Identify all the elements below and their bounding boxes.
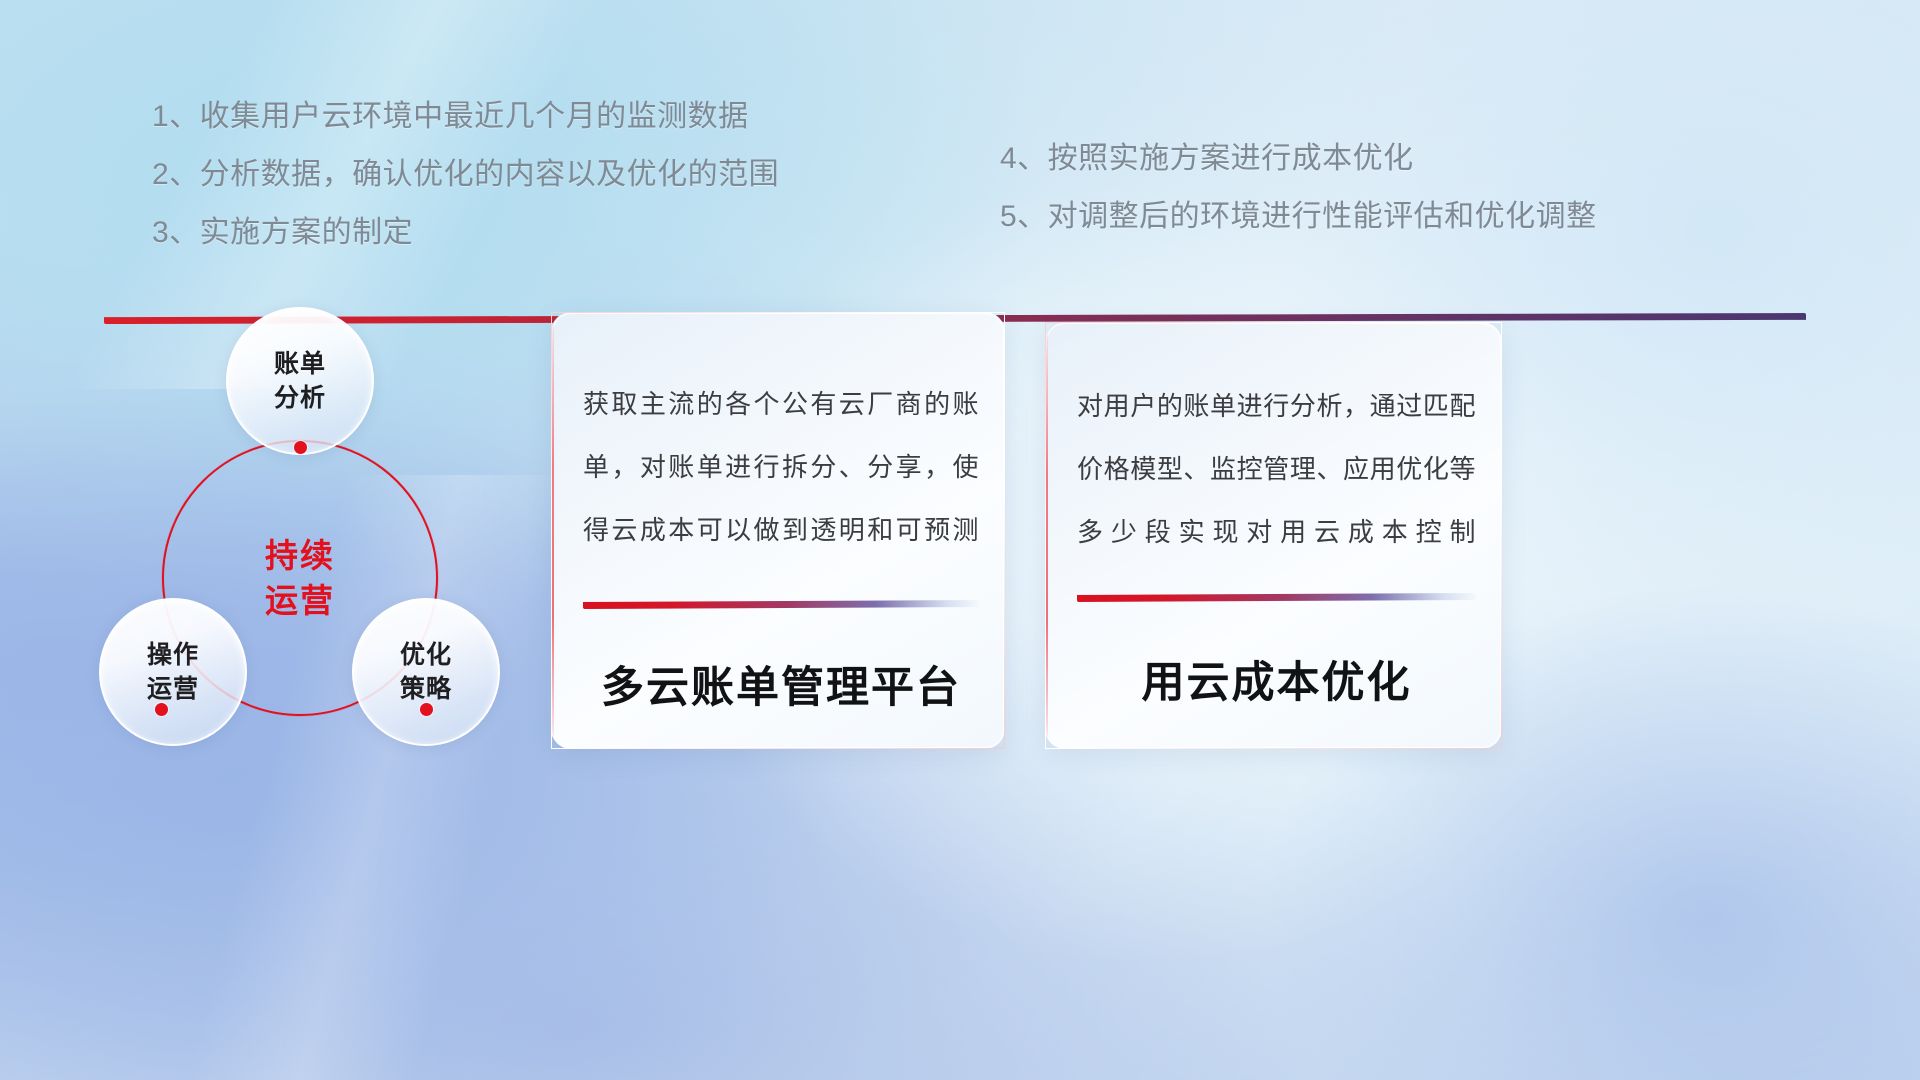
steps-column-right: 4、按照实施方案进行成本优化 5、对调整后的环境进行性能评估和优化调整 bbox=[1000, 130, 1597, 246]
card-2-accent-gradient bbox=[1077, 593, 1476, 602]
venn-node-bill-analysis-line2: 分析 bbox=[274, 381, 326, 415]
card-cloud-cost-optimization[interactable]: 对用户的账单进行分析，通过匹配价格模型、监控管理、应用优化等多少段实现对用云成本… bbox=[1045, 322, 1502, 749]
venn-node-optimization-strategy[interactable]: 优化 策略 bbox=[352, 598, 500, 746]
venn-node-bill-analysis-line1: 账单 bbox=[274, 347, 326, 381]
venn-connector-dot-left bbox=[155, 703, 168, 716]
step-item-2: 2、分析数据，确认优化的内容以及优化的范围 bbox=[152, 146, 779, 204]
card-2-body-text: 对用户的账单进行分析，通过匹配价格模型、监控管理、应用优化等多少段实现对用云成本… bbox=[1077, 375, 1476, 564]
venn-node-operations-line1: 操作 bbox=[147, 638, 199, 672]
step-item-3: 3、实施方案的制定 bbox=[152, 204, 779, 262]
step-item-4: 4、按照实施方案进行成本优化 bbox=[1000, 130, 1597, 188]
step-item-5: 5、对调整后的环境进行性能评估和优化调整 bbox=[1000, 188, 1597, 246]
venn-node-optimization-strategy-line1: 优化 bbox=[400, 638, 452, 672]
venn-node-bill-analysis[interactable]: 账单 分析 bbox=[226, 307, 374, 455]
venn-node-operations-line2: 运营 bbox=[147, 672, 199, 706]
card-1-accent-gradient bbox=[583, 600, 979, 609]
card-2-title: 用云成本优化 bbox=[1077, 648, 1476, 710]
venn-connector-dot-top bbox=[294, 441, 307, 454]
venn-node-bill-analysis-label: 账单 分析 bbox=[274, 347, 326, 415]
steps-column-left: 1、收集用户云环境中最近几个月的监测数据 2、分析数据，确认优化的内容以及优化的… bbox=[152, 88, 779, 262]
card-2-accent-bar bbox=[1077, 593, 1476, 602]
venn-node-optimization-strategy-label: 优化 策略 bbox=[400, 638, 452, 706]
card-1-body-text: 获取主流的各个公有云厂商的账单，对账单进行拆分、分享，使得云成本可以做到透明和可… bbox=[583, 373, 979, 562]
step-item-1: 1、收集用户云环境中最近几个月的监测数据 bbox=[152, 88, 779, 146]
card-1-title: 多云账单管理平台 bbox=[583, 653, 979, 715]
card-1-accent-bar bbox=[583, 600, 979, 609]
venn-node-operations-label: 操作 运营 bbox=[147, 638, 199, 706]
venn-connector-dot-right bbox=[420, 703, 433, 716]
venn-diagram: 持续 运营 账单 分析 操作 运营 优化 策略 bbox=[80, 280, 560, 780]
venn-node-optimization-strategy-line2: 策略 bbox=[400, 672, 452, 706]
venn-node-operations[interactable]: 操作 运营 bbox=[99, 598, 247, 746]
card-multicloud-billing-platform[interactable]: 获取主流的各个公有云厂商的账单，对账单进行拆分、分享，使得云成本可以做到透明和可… bbox=[551, 312, 1005, 749]
